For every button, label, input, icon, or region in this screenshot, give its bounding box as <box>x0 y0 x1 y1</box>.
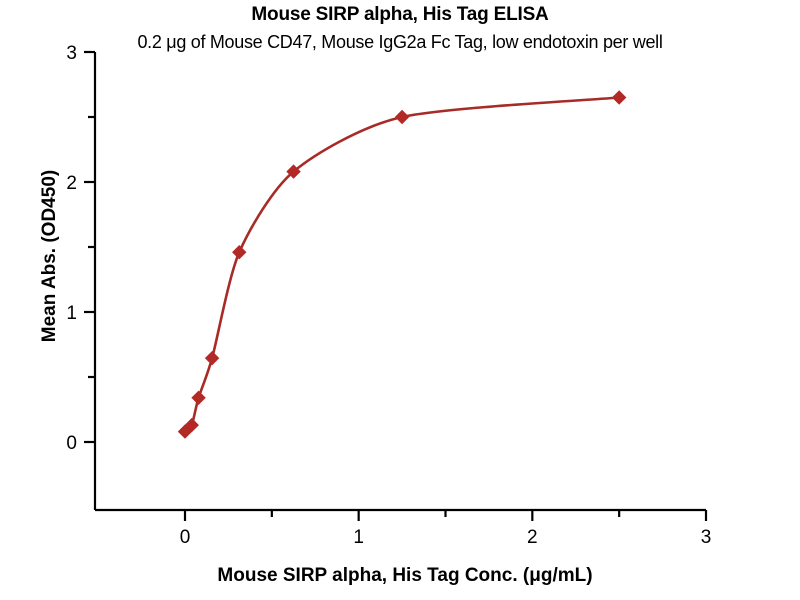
x-tick-label: 0 <box>180 527 191 548</box>
x-tick-label: 3 <box>701 527 712 548</box>
data-point-marker <box>206 352 219 365</box>
y-tick-label: 1 <box>66 303 77 324</box>
x-tick-layer: 0123 <box>180 510 712 548</box>
y-tick-label: 0 <box>66 433 77 454</box>
elisa-chart: Mouse SIRP alpha, His Tag ELISA 0.2 μg o… <box>0 0 800 600</box>
data-point-marker <box>613 91 626 104</box>
y-tick-label: 3 <box>66 43 77 64</box>
y-tick-label: 2 <box>66 173 77 194</box>
plot-area: 0123 0123 <box>0 0 800 600</box>
y-tick-layer: 0123 <box>66 43 95 454</box>
data-point-marker <box>233 246 246 259</box>
fit-curve <box>185 98 619 432</box>
data-point-marker <box>396 111 409 124</box>
data-marker-layer <box>179 91 626 438</box>
data-point-marker <box>192 391 205 404</box>
x-tick-label: 1 <box>353 527 364 548</box>
x-tick-label: 2 <box>527 527 538 548</box>
fit-curve-layer <box>185 98 619 432</box>
